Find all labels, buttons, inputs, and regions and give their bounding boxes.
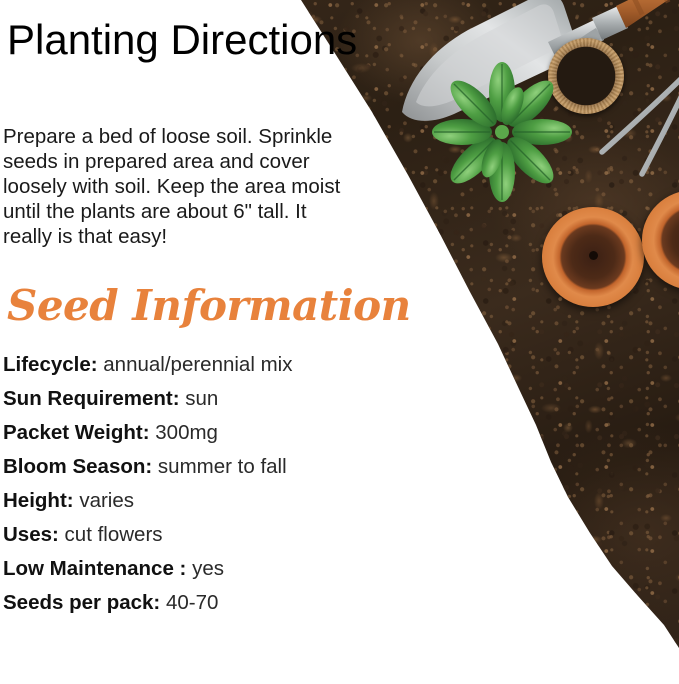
planting-heading-line1: Planting bbox=[7, 16, 159, 63]
spec-label: Seeds per pack: bbox=[3, 591, 160, 614]
seed-information-spec-list: Lifecycle: annual/perennial mix Sun Requ… bbox=[3, 348, 393, 620]
spec-label: Height: bbox=[3, 489, 74, 512]
spec-row: Low Maintenance : yes bbox=[3, 552, 393, 586]
spec-value: annual/perennial mix bbox=[103, 353, 292, 376]
spec-value: summer to fall bbox=[158, 455, 287, 478]
spec-row: Height: varies bbox=[3, 484, 393, 518]
spec-row: Packet Weight: 300mg bbox=[3, 416, 393, 450]
planting-heading-line2: Directions bbox=[170, 16, 357, 63]
spec-row: Lifecycle: annual/perennial mix bbox=[3, 348, 393, 382]
seed-information-heading: Seed Information bbox=[7, 285, 411, 327]
spec-row: Seeds per pack: 40-70 bbox=[3, 586, 393, 620]
spec-row: Uses: cut flowers bbox=[3, 518, 393, 552]
planting-directions-heading: Planting Directions bbox=[7, 16, 357, 64]
spec-value: yes bbox=[192, 557, 224, 580]
spec-value: 300mg bbox=[155, 421, 218, 444]
spec-label: Packet Weight: bbox=[3, 421, 150, 444]
spec-label: Sun Requirement: bbox=[3, 387, 180, 410]
spec-row: Sun Requirement: sun bbox=[3, 382, 393, 416]
spec-value: varies bbox=[79, 489, 134, 512]
spec-value: cut flowers bbox=[65, 523, 163, 546]
spec-label: Uses: bbox=[3, 523, 59, 546]
spec-label: Low Maintenance : bbox=[3, 557, 186, 580]
spec-row: Bloom Season: summer to fall bbox=[3, 450, 393, 484]
spec-value: sun bbox=[185, 387, 218, 410]
spec-value: 40-70 bbox=[166, 591, 218, 614]
planting-directions-body: Prepare a bed of loose soil. Sprinkle se… bbox=[3, 124, 348, 249]
spec-label: Bloom Season: bbox=[3, 455, 152, 478]
seed-packet-label: Planting Directions Prepare a bed of loo… bbox=[0, 0, 679, 684]
spec-label: Lifecycle: bbox=[3, 353, 98, 376]
